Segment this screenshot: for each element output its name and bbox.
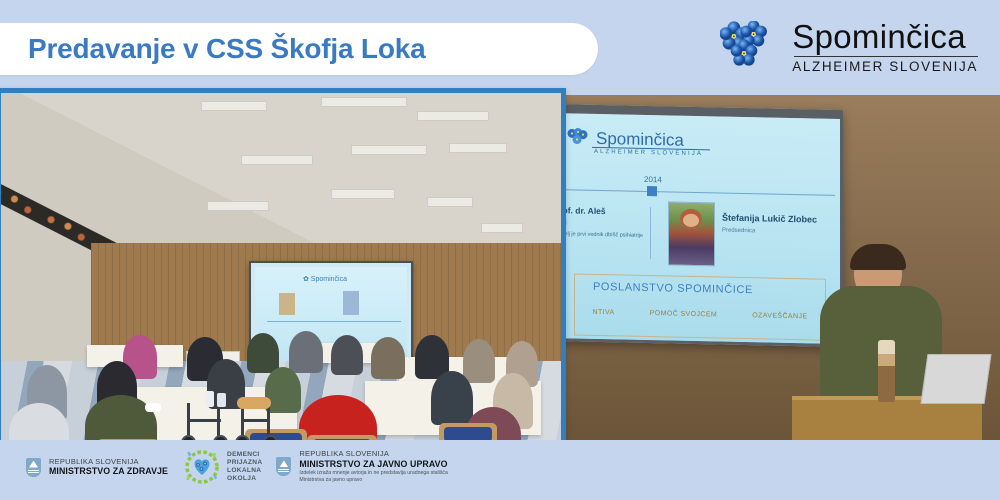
page-title: Predavanje v CSS Škofja Loka — [28, 33, 425, 65]
coffee-cup — [145, 403, 161, 412]
slide-divider — [650, 207, 651, 259]
ministry-health-text: REPUBLIKA SLOVENIJA MINISTRSTVO ZA ZDRAV… — [49, 458, 168, 477]
water-bottle — [878, 340, 895, 402]
audience-person — [289, 331, 323, 373]
slide-person-left-name: prof. dr. Aleš — [554, 205, 644, 218]
ministry-public-admin-line2: MINISTRSTVO ZA JAVNO UPRAVO — [299, 459, 465, 469]
slide-timeline-line — [560, 189, 835, 196]
brand-subtitle: ALZHEIMER SLOVENIJA — [792, 59, 978, 74]
room-slide-figure-right — [343, 291, 359, 315]
poster-canvas: Spominčica ALZHEIMER SLOVENIJA 2014 prof… — [0, 0, 1000, 500]
footer-logos: REPUBLIKA SLOVENIJA MINISTRSTVO ZA ZDRAV… — [26, 448, 465, 486]
photo-presenter: Spominčica ALZHEIMER SLOVENIJA 2014 prof… — [535, 95, 1000, 452]
dementia-friendly-text: DEMENCI PRIJAZNA LOKALNA OKOLJA — [227, 451, 262, 484]
ministry-public-admin-text: REPUBLIKA SLOVENIJA MINISTRSTVO ZA JAVNO… — [299, 450, 465, 484]
ministry-health-line2: MINISTRSTVO ZA ZDRAVJE — [49, 466, 168, 476]
slide-mission-title: POSLANSTVO SPOMINČICE — [593, 281, 753, 296]
slide-brand-logo: Spominčica — [566, 127, 684, 149]
cookie-plate — [237, 397, 271, 409]
presenter-hair — [850, 244, 906, 270]
room-slide-rule — [267, 321, 401, 322]
laptop — [920, 354, 991, 404]
dementia-line: PRIJAZNA — [227, 459, 262, 467]
brand-logo: Spominčica ALZHEIMER SLOVENIJA — [720, 18, 978, 76]
slide-timeline-marker — [647, 186, 657, 196]
room-slide-figure-left — [279, 293, 295, 315]
slide-person-left: prof. dr. Aleš goj ravitelj je prvi vedn… — [554, 205, 644, 240]
presenter-figure — [792, 237, 982, 452]
ministry-health-logo: REPUBLIKA SLOVENIJA MINISTRSTVO ZA ZDRAV… — [26, 458, 168, 477]
dementia-friendly-circle-icon — [182, 448, 222, 486]
brand-text: Spominčica ALZHEIMER SLOVENIJA — [792, 20, 978, 74]
dementia-line: OKOLJA — [227, 475, 262, 483]
slovenia-coat-of-arms-icon — [276, 457, 291, 476]
audience-person — [431, 371, 473, 425]
slovenia-coat-of-arms-icon — [26, 458, 41, 477]
slide-person-right: Štefanija Lukič Zlobec Predsednica — [722, 213, 832, 236]
audience-person — [247, 333, 279, 373]
slide-brand-name: Spominčica — [596, 129, 684, 148]
slide-brand-subtitle: ALZHEIMER SLOVENIJA — [594, 149, 703, 157]
slide-mission-item: POMOČ SVOJCEM — [650, 310, 717, 318]
dementia-line: DEMENCI — [227, 451, 262, 459]
slide-mission-items: NTIVA POMOČ SVOJCEM OZAVEŠČANJE — [575, 308, 825, 320]
water-glass — [205, 391, 214, 407]
slide-person-right-role: Predsednica — [722, 228, 832, 236]
slide-timeline-year: 2014 — [644, 175, 662, 184]
ministry-public-admin-line1: REPUBLIKA SLOVENIJA — [299, 450, 465, 459]
audience-person — [331, 335, 363, 375]
audience-person — [463, 339, 495, 383]
audience-person — [371, 337, 405, 379]
slide-person-portrait — [668, 201, 715, 266]
slide-mission-item: NTIVA — [593, 309, 615, 316]
slide-person-left-name2: goj — [554, 216, 644, 229]
slide-person-right-name: Štefanija Lukič Zlobec — [722, 213, 832, 226]
title-banner: Predavanje v CSS Škofja Loka — [0, 23, 598, 75]
footer: REPUBLIKA SLOVENIJA MINISTRSTVO ZA ZDRAV… — [0, 440, 1000, 500]
brand-divider — [794, 56, 978, 57]
slide-person-left-role: ravitelj je prvi vednik dbIšč psihiatrij… — [554, 230, 644, 240]
water-glass — [217, 393, 226, 407]
dementia-friendly-logo: DEMENCI PRIJAZNA LOKALNA OKOLJA — [182, 448, 262, 486]
audience-area — [1, 343, 561, 446]
room-slide-logo: ✿ Spominčica — [303, 275, 347, 283]
ministry-public-admin-disclaimer: Izdelek izraža mnenje avtorja in ne pred… — [299, 470, 465, 484]
ceiling-lights — [181, 93, 561, 263]
ministry-health-line1: REPUBLIKA SLOVENIJA — [49, 458, 168, 467]
photo-audience: ✿ Spominčica — [0, 88, 566, 446]
dementia-line: LOKALNA — [227, 467, 262, 475]
brand-name: Spominčica — [792, 20, 978, 53]
ministry-public-admin-logo: REPUBLIKA SLOVENIJA MINISTRSTVO ZA JAVNO… — [276, 450, 465, 484]
forget-me-not-flowers-icon — [720, 21, 784, 73]
slide-mission-box: POSLANSTVO SPOMINČICE NTIVA POMOČ SVOJCE… — [574, 273, 826, 340]
forget-me-not-flowers-icon — [566, 127, 592, 148]
